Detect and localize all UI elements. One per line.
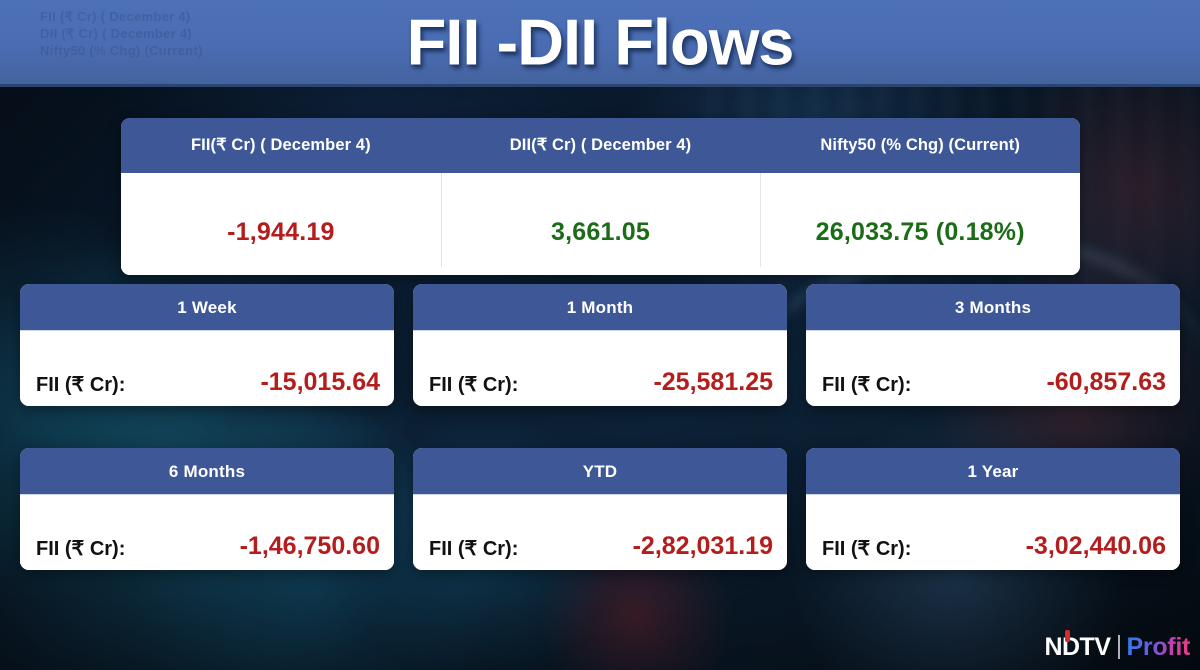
summary-column-nifty50: Nifty50 (% Chg) (Current) 26,033.75 (0.1…: [760, 118, 1080, 275]
summary-header-nifty50: Nifty50 (% Chg) (Current): [760, 118, 1080, 173]
summary-body-dii: 3,661.05: [441, 173, 761, 275]
summary-value-dii: 3,661.05: [551, 218, 650, 247]
summary-header-dii: DII(₹ Cr) ( December 4): [441, 118, 761, 173]
period-value-1month: -25,581.25: [653, 368, 773, 397]
summary-column-fii: FII(₹ Cr) ( December 4) -1,944.19: [121, 118, 441, 275]
period-value-3months: -60,857.63: [1046, 368, 1166, 397]
period-title-6months: 6 Months: [20, 448, 394, 495]
period-card-1year: 1 Year FII (₹ Cr): -3,02,440.06: [806, 448, 1180, 570]
summary-value-nifty50: 26,033.75 (0.18%): [816, 218, 1025, 247]
period-metric-label-3months: FII (₹ Cr):: [822, 372, 911, 397]
ndtv-profit-logo: NDTV Profit: [1044, 632, 1190, 662]
page-title: FII -DII Flows: [0, 5, 1200, 80]
period-card-6months: 6 Months FII (₹ Cr): -1,46,750.60: [20, 448, 394, 570]
period-value-6months: -1,46,750.60: [240, 532, 380, 561]
fii-dii-flows-graphic: FII (₹ Cr) ( December 4) DII (₹ Cr) ( De…: [0, 0, 1200, 670]
summary-header-dii-rest: (₹ Cr) ( December 4): [531, 136, 691, 154]
summary-header-fii: FII(₹ Cr) ( December 4): [121, 118, 441, 173]
summary-body-fii: -1,944.19: [121, 173, 441, 275]
summary-header-fii-bold: FII: [191, 136, 211, 154]
period-value-ytd: -2,82,031.19: [633, 532, 773, 561]
period-card-ytd: YTD FII (₹ Cr): -2,82,031.19: [413, 448, 787, 570]
ndtv-wordmark: NDTV: [1044, 633, 1110, 662]
period-card-3months: 3 Months FII (₹ Cr): -60,857.63: [806, 284, 1180, 406]
summary-header-fii-rest: (₹ Cr) ( December 4): [211, 136, 371, 154]
period-value-1year: -3,02,440.06: [1026, 532, 1166, 561]
period-body-6months: FII (₹ Cr): -1,46,750.60: [20, 495, 394, 570]
summary-header-dii-bold: DII: [510, 136, 531, 154]
profit-wordmark: Profit: [1127, 633, 1190, 662]
period-body-1week: FII (₹ Cr): -15,015.64: [20, 331, 394, 406]
period-metric-label-1week: FII (₹ Cr):: [36, 372, 125, 397]
period-body-3months: FII (₹ Cr): -60,857.63: [806, 331, 1180, 406]
summary-column-dii: DII(₹ Cr) ( December 4) 3,661.05: [441, 118, 761, 275]
period-body-1year: FII (₹ Cr): -3,02,440.06: [806, 495, 1180, 570]
summary-card: FII(₹ Cr) ( December 4) -1,944.19 DII(₹ …: [121, 118, 1080, 275]
period-metric-label-1month: FII (₹ Cr):: [429, 372, 518, 397]
period-metric-label-1year: FII (₹ Cr):: [822, 536, 911, 561]
logo-divider: [1118, 635, 1120, 659]
period-value-1week: -15,015.64: [260, 368, 380, 397]
period-body-1month: FII (₹ Cr): -25,581.25: [413, 331, 787, 406]
period-title-1week: 1 Week: [20, 284, 394, 331]
summary-body-nifty50: 26,033.75 (0.18%): [760, 173, 1080, 275]
period-body-ytd: FII (₹ Cr): -2,82,031.19: [413, 495, 787, 570]
period-card-1week: 1 Week FII (₹ Cr): -15,015.64: [20, 284, 394, 406]
period-title-1year: 1 Year: [806, 448, 1180, 495]
period-metric-label-ytd: FII (₹ Cr):: [429, 536, 518, 561]
summary-value-fii: -1,944.19: [227, 218, 334, 247]
title-band: FII (₹ Cr) ( December 4) DII (₹ Cr) ( De…: [0, 0, 1200, 87]
period-title-3months: 3 Months: [806, 284, 1180, 331]
period-title-1month: 1 Month: [413, 284, 787, 331]
period-metric-label-6months: FII (₹ Cr):: [36, 536, 125, 561]
period-title-ytd: YTD: [413, 448, 787, 495]
period-card-1month: 1 Month FII (₹ Cr): -25,581.25: [413, 284, 787, 406]
